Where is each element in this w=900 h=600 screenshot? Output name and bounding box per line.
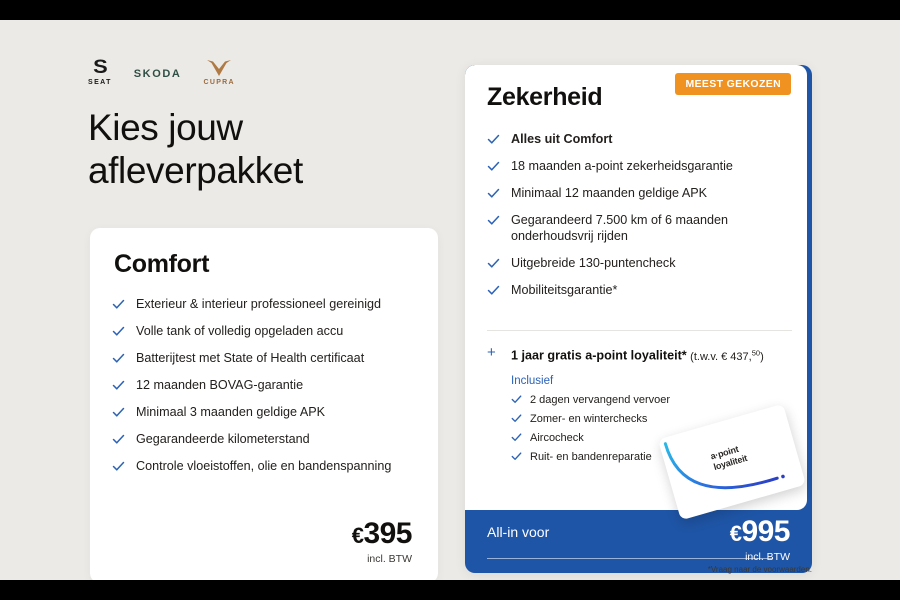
list-item: Batterijtest met State of Health certifi…	[112, 350, 422, 366]
list-item-label: 12 maanden BOVAG-garantie	[136, 378, 303, 392]
status-badge: MEEST GEKOZEN	[675, 73, 791, 95]
list-item-label: Minimaal 12 maanden geldige APK	[511, 186, 707, 200]
check-icon	[487, 257, 500, 270]
check-icon	[487, 160, 500, 173]
cupra-wordmark: CUPRA	[203, 79, 234, 86]
list-item: Gegarandeerde kilometerstand	[112, 431, 422, 447]
list-item-label: Gegarandeerd 7.500 km of 6 maanden onder…	[511, 213, 728, 243]
list-item: Exterieur & interieur professioneel gere…	[112, 296, 422, 312]
check-icon	[487, 214, 500, 227]
list-item-label: 2 dagen vervangend vervoer	[530, 394, 670, 406]
list-item: Minimaal 12 maanden geldige APK	[487, 185, 799, 201]
page-title: Kies jouw afleverpakket	[88, 106, 418, 192]
list-item-label: Aircocheck	[530, 432, 584, 444]
list-item: 12 maanden BOVAG-garantie	[112, 377, 422, 393]
list-item-label: Controle vloeistoffen, olie en bandenspa…	[136, 459, 391, 473]
seat-wordmark: SEAT	[88, 79, 112, 86]
check-icon	[511, 394, 522, 405]
cupra-mark-icon	[206, 59, 232, 77]
section-divider	[487, 330, 792, 331]
check-icon	[112, 352, 125, 365]
check-icon	[511, 413, 522, 424]
skoda-wordmark-icon: SKODA	[134, 68, 182, 86]
inclusief-title: Inclusief	[511, 375, 751, 387]
bonus-value: (t.w.v. € 437,50)	[690, 351, 764, 363]
promo-canvas: S SEAT SKODA CUPRA Kies jouw afleverpakk…	[0, 20, 900, 580]
list-item-label: 18 maanden a-point zekerheidsgarantie	[511, 159, 733, 173]
check-icon	[112, 298, 125, 311]
list-item-label: Minimaal 3 maanden geldige APK	[136, 405, 325, 419]
currency-symbol: €	[352, 523, 364, 548]
list-item: 2 dagen vervangend vervoer	[511, 393, 751, 407]
zekerheid-price-value: 995	[741, 515, 790, 548]
list-item-label: Uitgebreide 130-puntencheck	[511, 256, 676, 270]
check-icon	[112, 379, 125, 392]
list-item-label: Volle tank of volledig opgeladen accu	[136, 324, 343, 338]
list-item: Volle tank of volledig opgeladen accu	[112, 323, 422, 339]
cupra-logo-icon: CUPRA	[203, 59, 234, 86]
check-icon	[487, 284, 500, 297]
check-icon	[112, 460, 125, 473]
list-item: Mobiliteitsgarantie*	[487, 282, 799, 298]
zekerheid-title: Zekerheid	[487, 83, 602, 112]
list-item: Gegarandeerd 7.500 km of 6 maanden onder…	[487, 212, 799, 244]
zekerheid-price-note: incl. BTW	[730, 551, 790, 563]
brand-logo-bar: S SEAT SKODA CUPRA	[88, 58, 235, 86]
seat-mark-icon: S	[93, 58, 106, 77]
check-icon	[112, 325, 125, 338]
fineprint-note: *Vraag naar de voorwaarden.	[708, 565, 812, 574]
check-icon	[112, 406, 125, 419]
check-icon	[487, 133, 500, 146]
list-item: 18 maanden a-point zekerheidsgarantie	[487, 158, 799, 174]
currency-symbol: €	[730, 521, 742, 546]
check-icon	[487, 187, 500, 200]
bonus-value-cents: 50	[752, 348, 760, 357]
list-item: Minimaal 3 maanden geldige APK	[112, 404, 422, 420]
bonus-value-suffix: )	[760, 351, 764, 363]
list-item-label: Ruit- en bandenreparatie	[530, 451, 652, 463]
zekerheid-price-block: €995 incl. BTW	[730, 516, 790, 563]
allin-label: All-in voor	[487, 524, 549, 540]
list-item-label: Exterieur & interieur professioneel gere…	[136, 297, 381, 311]
comfort-price-block: €395 incl. BTW	[352, 518, 412, 565]
comfort-price: €395	[352, 518, 412, 552]
check-icon	[511, 432, 522, 443]
comfort-price-value: 395	[363, 517, 412, 550]
list-item: Alles uit Comfort	[487, 131, 799, 147]
bonus-row: + 1 jaar gratis a-point loyaliteit* (t.w…	[487, 345, 802, 365]
comfort-package-card[interactable]: Comfort Exterieur & interieur profession…	[90, 228, 438, 580]
list-item-label: Alles uit Comfort	[511, 132, 612, 146]
list-item-label: Zomer- en winterchecks	[530, 413, 647, 425]
comfort-price-note: incl. BTW	[352, 553, 412, 565]
zekerheid-price: €995	[730, 516, 790, 550]
screenshot-stage: S SEAT SKODA CUPRA Kies jouw afleverpakk…	[0, 0, 900, 600]
list-item-label: Mobiliteitsgarantie*	[511, 283, 617, 297]
plus-icon: +	[487, 345, 496, 360]
zekerheid-package-card[interactable]: Zekerheid MEEST GEKOZEN Alles uit Comfor…	[465, 65, 812, 573]
zekerheid-price-footer: All-in voor €995 incl. BTW	[465, 510, 812, 573]
comfort-feature-list: Exterieur & interieur professioneel gere…	[112, 296, 422, 485]
list-item-label: Batterijtest met State of Health certifi…	[136, 351, 364, 365]
check-icon	[112, 433, 125, 446]
comfort-title: Comfort	[114, 250, 209, 279]
list-item: Uitgebreide 130-puntencheck	[487, 255, 799, 271]
bonus-value-prefix: (t.w.v. € 437,	[690, 351, 752, 363]
zekerheid-feature-list: Alles uit Comfort 18 maanden a-point zek…	[487, 131, 799, 309]
list-item: Controle vloeistoffen, olie en bandenspa…	[112, 458, 422, 474]
list-item-label: Gegarandeerde kilometerstand	[136, 432, 310, 446]
seat-logo-icon: S SEAT	[88, 58, 112, 86]
bonus-label: 1 jaar gratis a-point loyaliteit*	[511, 349, 687, 363]
check-icon	[511, 451, 522, 462]
